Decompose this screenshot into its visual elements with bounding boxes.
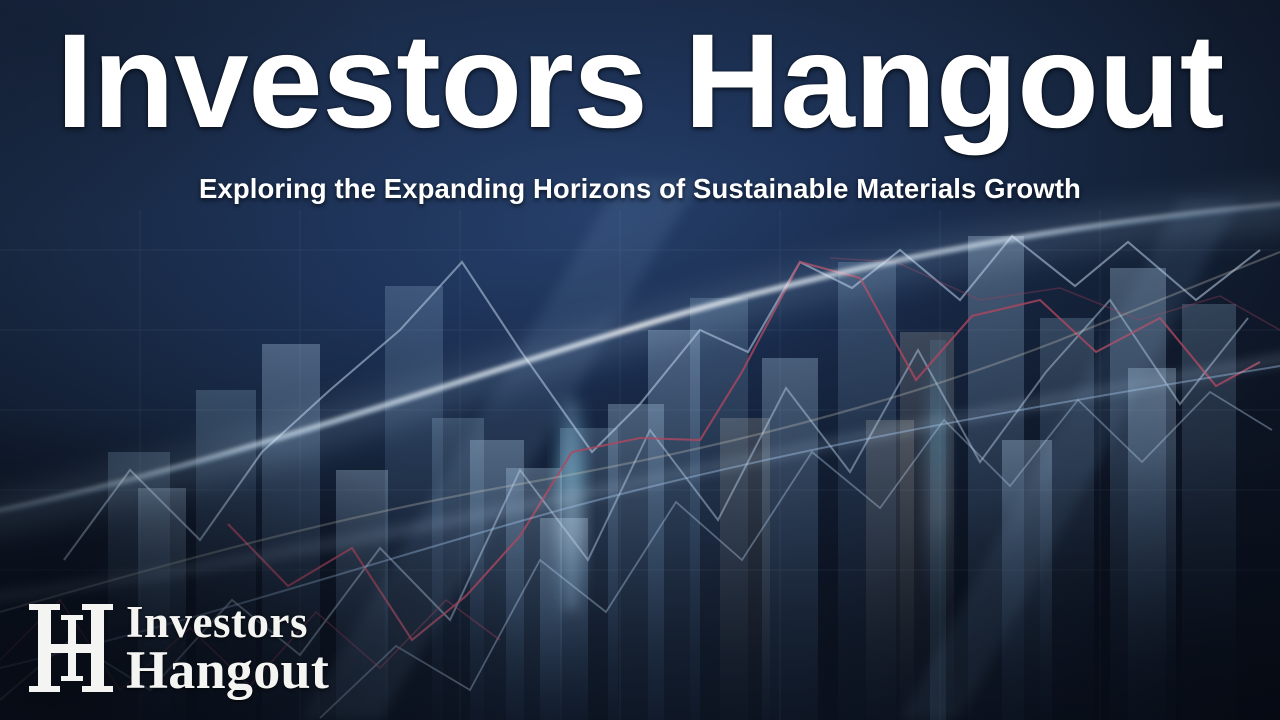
site-logo[interactable]: Investors Hangout: [24, 596, 329, 700]
page-title: Investors Hangout: [0, 0, 1280, 153]
logo-line-investors: Investors: [126, 600, 329, 644]
promo-banner: Investors Hangout Exploring the Expandin…: [0, 0, 1280, 720]
logo-wordmark: Investors Hangout: [126, 600, 329, 697]
ih-monogram-icon: [24, 596, 122, 700]
logo-line-hangout: Hangout: [126, 644, 329, 697]
page-subtitle: Exploring the Expanding Horizons of Sust…: [0, 153, 1280, 205]
banner-header: Investors Hangout Exploring the Expandin…: [0, 0, 1280, 205]
